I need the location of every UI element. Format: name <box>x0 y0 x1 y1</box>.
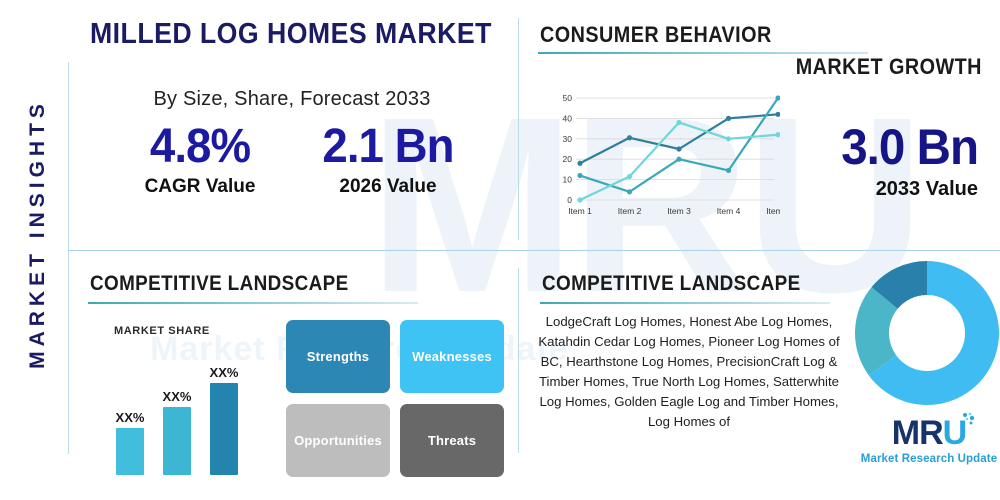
consumer-behavior-title: CONSUMER BEHAVIOR <box>540 22 772 48</box>
data-point <box>775 112 780 117</box>
line-series-series-2 <box>580 98 778 192</box>
market-growth-stat: 3.0 Bn 2033 Value <box>834 122 978 201</box>
x-axis-tick-label: Item 5 <box>766 206 780 216</box>
data-point <box>676 120 681 125</box>
competitive-landscape-right-underline <box>540 302 830 304</box>
logo-mark-left: MR <box>892 414 943 452</box>
market-growth-caption: 2033 Value <box>834 178 978 201</box>
y-axis-tick-label: 50 <box>563 93 573 103</box>
market-share-bar-label: XX% <box>107 410 153 425</box>
data-point <box>676 146 681 151</box>
logo-bubbles-icon <box>961 412 975 428</box>
market-share-bar <box>163 407 191 475</box>
consumer-behavior-panel: CONSUMER BEHAVIOR MARKET GROWTH 3.0 Bn 2… <box>520 0 1000 248</box>
market-growth-title: MARKET GROWTH <box>796 54 982 80</box>
data-point <box>577 161 582 166</box>
consumer-behavior-line-chart: 01020304050Item 1Item 2Item 3Item 4Item … <box>550 92 780 222</box>
market-share-bar-label: XX% <box>201 365 247 380</box>
mru-logo-mark: MRU <box>892 416 966 450</box>
market-share-bar-chart: XX%XX%XX% <box>98 310 288 475</box>
swot-box-opportunities[interactable]: Opportunities <box>286 404 390 477</box>
market-share-bar-label: XX% <box>154 389 200 404</box>
market-share-donut-chart <box>852 258 1000 408</box>
swot-matrix: StrengthsWeaknessesOpportunitiesThreats <box>286 320 508 480</box>
data-point <box>577 197 582 202</box>
data-point <box>676 157 681 162</box>
data-point <box>627 135 632 140</box>
competitive-landscape-left-title: COMPETITIVE LANDSCAPE <box>90 272 349 296</box>
top-center-divider <box>518 18 519 240</box>
data-point <box>726 116 731 121</box>
data-point <box>627 174 632 179</box>
data-point <box>577 173 582 178</box>
page-title: MILLED LOG HOMES MARKET <box>90 18 476 51</box>
stat-cagr-caption: CAGR Value <box>110 176 290 198</box>
x-axis-tick-label: Item 3 <box>667 206 691 216</box>
headline-stats: 4.8% CAGR Value 2.1 Bn 2026 Value <box>68 122 516 232</box>
competitive-landscape-left-panel: COMPETITIVE LANDSCAPE MARKET SHARE XX%XX… <box>68 250 516 500</box>
company-list: LodgeCraft Log Homes, Honest Abe Log Hom… <box>534 312 844 432</box>
competitive-landscape-right-panel: COMPETITIVE LANDSCAPE LodgeCraft Log Hom… <box>520 250 1000 500</box>
stat-cagr: 4.8% CAGR Value <box>110 122 290 198</box>
competitive-landscape-right-title: COMPETITIVE LANDSCAPE <box>542 272 801 296</box>
stat-2026-value: 2.1 Bn <box>303 122 474 172</box>
market-share-bar <box>116 428 144 475</box>
x-axis-tick-label: Item 2 <box>618 206 642 216</box>
market-insights-label: MARKET INSIGHTS <box>26 34 50 434</box>
mru-logo: MRU Market Research Update <box>856 416 1000 465</box>
y-axis-tick-label: 0 <box>567 195 572 205</box>
data-point <box>775 132 780 137</box>
y-axis-tick-label: 40 <box>563 113 573 123</box>
stat-cagr-value: 4.8% <box>115 122 286 172</box>
market-growth-value: 3.0 Bn <box>841 122 978 172</box>
data-point <box>726 168 731 173</box>
title-panel: MILLED LOG HOMES MARKET By Size, Share, … <box>68 0 516 248</box>
x-axis-tick-label: Item 4 <box>717 206 741 216</box>
stat-2026-caption: 2026 Value <box>298 176 478 198</box>
stat-2026: 2.1 Bn 2026 Value <box>298 122 478 198</box>
data-point <box>627 189 632 194</box>
mru-logo-subtitle: Market Research Update <box>856 453 1000 465</box>
market-share-bar <box>210 383 238 475</box>
x-axis-tick-label: Item 1 <box>568 206 592 216</box>
y-axis-tick-label: 10 <box>563 175 573 185</box>
competitive-landscape-left-underline <box>88 302 418 304</box>
swot-box-strengths[interactable]: Strengths <box>286 320 390 393</box>
page-subtitle: By Size, Share, Forecast 2033 <box>68 88 516 111</box>
y-axis-tick-label: 30 <box>563 134 573 144</box>
swot-box-weaknesses[interactable]: Weaknesses <box>400 320 504 393</box>
swot-box-threats[interactable]: Threats <box>400 404 504 477</box>
data-point <box>726 136 731 141</box>
bottom-center-divider <box>518 268 519 453</box>
y-axis-tick-label: 20 <box>563 154 573 164</box>
left-rail: MARKET INSIGHTS <box>6 0 68 500</box>
